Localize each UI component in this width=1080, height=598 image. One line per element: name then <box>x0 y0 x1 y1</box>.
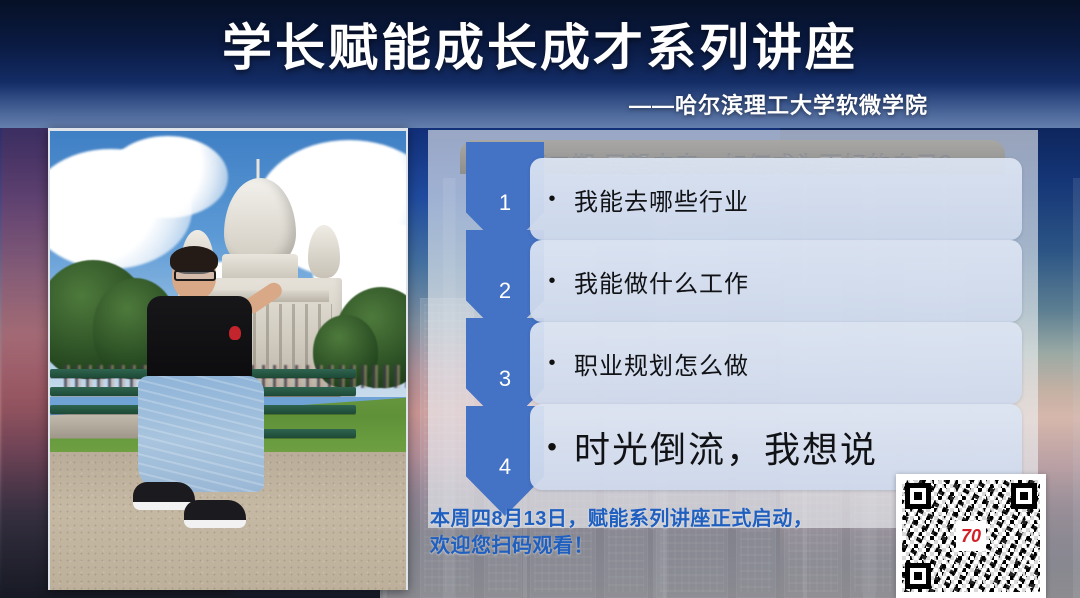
announcement-line-2: 欢迎您扫码观看！ <box>430 533 900 560</box>
photo-image <box>50 131 406 590</box>
presentation-slide: 学长赋能成长成才系列讲座 ——哈尔滨理工大学软微学院 <box>0 0 1080 598</box>
qr-code[interactable]: 70 <box>896 474 1046 598</box>
person-figure <box>135 250 277 590</box>
qr-finder-top-right <box>1011 483 1037 509</box>
agenda-item-4-label: 时光倒流，我想说 <box>574 421 878 473</box>
announcement-line-1: 本周四8月13日，赋能系列讲座正式启动， <box>430 506 900 533</box>
page-subtitle: ——哈尔滨理工大学软微学院 <box>629 88 928 120</box>
bullet-icon: • <box>530 189 574 209</box>
bullet-icon: • <box>530 353 574 373</box>
qr-finder-top-left <box>905 483 931 509</box>
qr-finder-bottom-left <box>905 563 931 589</box>
bullet-icon: • <box>530 433 574 461</box>
bullet-icon: • <box>530 271 574 291</box>
agenda-item-2-label: 我能做什么工作 <box>574 264 749 299</box>
glasses-icon <box>174 270 216 281</box>
agenda-item-2[interactable]: • 我能做什么工作 <box>530 240 1022 322</box>
agenda-item-3[interactable]: • 职业规划怎么做 <box>530 322 1022 404</box>
agenda-item-1[interactable]: • 我能去哪些行业 <box>530 158 1022 240</box>
qr-logo-text: 70 <box>961 527 981 545</box>
speaker-photo <box>48 128 408 590</box>
announcement: 本周四8月13日，赋能系列讲座正式启动， 欢迎您扫码观看！ <box>430 506 900 560</box>
agenda-item-3-label: 职业规划怎么做 <box>574 346 749 381</box>
page-title: 学长赋能成长成才系列讲座 <box>0 8 1080 80</box>
qr-center-logo: 70 <box>956 521 986 551</box>
agenda-item-1-label: 我能去哪些行业 <box>574 182 749 217</box>
qr-matrix: 70 <box>902 480 1040 592</box>
